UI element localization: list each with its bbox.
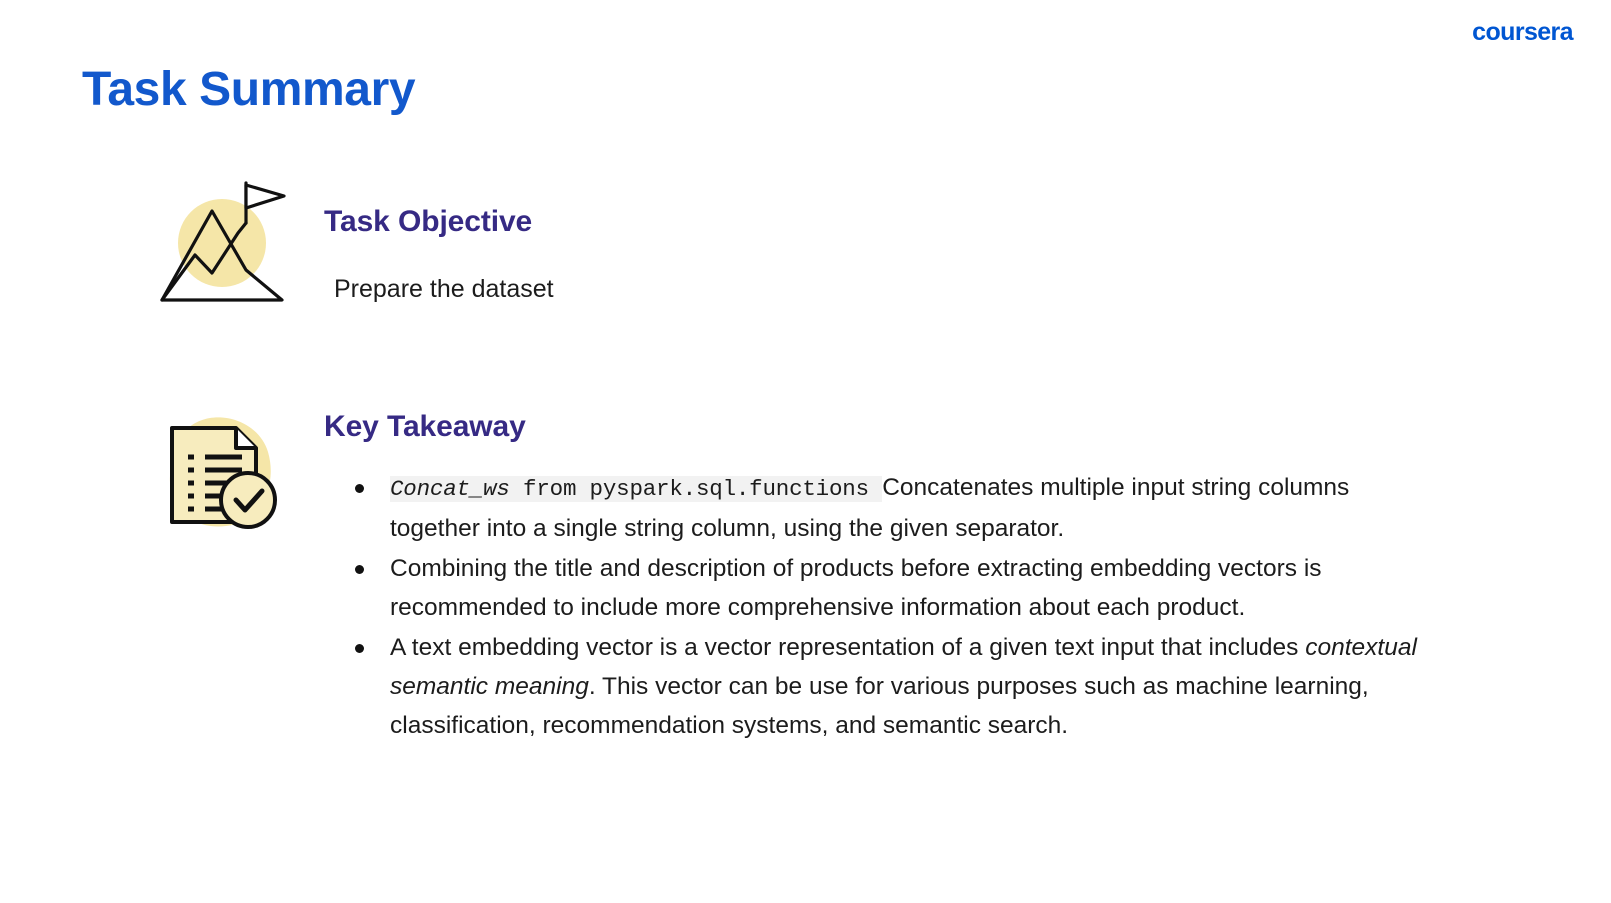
coursera-logo: coursera <box>1472 18 1573 47</box>
document-checklist-check-icon <box>150 400 290 530</box>
task-objective-body: Task Objective Prepare the dataset <box>324 175 554 304</box>
code-snippet: Concat_ws from pyspark.sql.functions <box>390 476 882 502</box>
key-takeaway-section: Key Takeaway Concat_ws from pyspark.sql.… <box>140 400 1434 746</box>
list-item: Combining the title and description of p… <box>324 549 1434 627</box>
task-objective-section: Task Objective Prepare the dataset <box>140 175 554 315</box>
code-module-path: from pyspark.sql.functions <box>510 476 882 502</box>
mountain-flag-icon <box>150 175 290 315</box>
list-item: Concat_ws from pyspark.sql.functions Con… <box>324 468 1434 548</box>
key-takeaway-bullet-list: Concat_ws from pyspark.sql.functions Con… <box>324 468 1434 745</box>
list-item: A text embedding vector is a vector repr… <box>324 628 1434 745</box>
list-item-text-before: A text embedding vector is a vector repr… <box>390 634 1305 661</box>
page-title: Task Summary <box>82 62 415 117</box>
key-takeaway-heading: Key Takeaway <box>324 410 1434 444</box>
task-objective-text: Prepare the dataset <box>334 275 554 304</box>
mountain-flag-icon-slot <box>140 175 300 315</box>
document-checklist-icon-slot <box>140 400 300 530</box>
code-function-name: Concat_ws <box>390 476 510 502</box>
key-takeaway-body: Key Takeaway Concat_ws from pyspark.sql.… <box>324 400 1434 746</box>
list-item-text: Combining the title and description of p… <box>390 555 1322 621</box>
task-objective-heading: Task Objective <box>324 205 554 239</box>
